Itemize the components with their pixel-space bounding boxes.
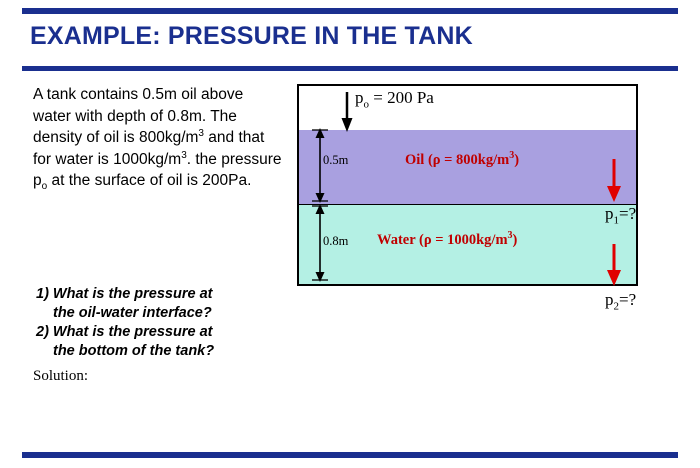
page-title: EXAMPLE: PRESSURE IN THE TANK xyxy=(30,22,473,51)
bottom-divider-rule xyxy=(22,452,678,458)
solution-label: Solution: xyxy=(33,368,88,385)
water-depth-label: 0.8m xyxy=(323,234,348,249)
surface-pressure-arrow xyxy=(342,92,353,132)
tank-diagram: po = 200 Pa 0.5m 0.8m Oil (ρ = 800kg/m3)… xyxy=(297,84,677,309)
diagram-annotations xyxy=(297,84,677,309)
questions-list: 1) What is the pressure at the oil-water… xyxy=(36,285,286,361)
surface-pressure-label: po = 200 Pa xyxy=(355,88,434,108)
oil-depth-label: 0.5m xyxy=(323,153,348,168)
question-2-line-1: 2) What is the pressure at xyxy=(36,323,286,342)
question-1-line-2: the oil-water interface? xyxy=(36,304,286,323)
p1-arrow xyxy=(607,159,621,202)
water-layer-label: Water (ρ = 1000kg/m3) xyxy=(377,232,517,249)
p2-label: p2=? xyxy=(605,290,636,310)
question-1-line-1: 1) What is the pressure at xyxy=(36,285,286,304)
top-divider-rule xyxy=(22,8,678,14)
oil-layer-label: Oil (ρ = 800kg/m3) xyxy=(405,152,519,169)
slide: EXAMPLE: PRESSURE IN THE TANK A tank con… xyxy=(0,0,700,468)
question-2-line-2: the bottom of the tank? xyxy=(36,342,286,361)
problem-statement: A tank contains 0.5m oil above water wit… xyxy=(33,84,285,192)
p2-arrow xyxy=(607,244,621,286)
p1-label: p1=? xyxy=(605,204,636,224)
title-underline-rule xyxy=(22,66,678,71)
